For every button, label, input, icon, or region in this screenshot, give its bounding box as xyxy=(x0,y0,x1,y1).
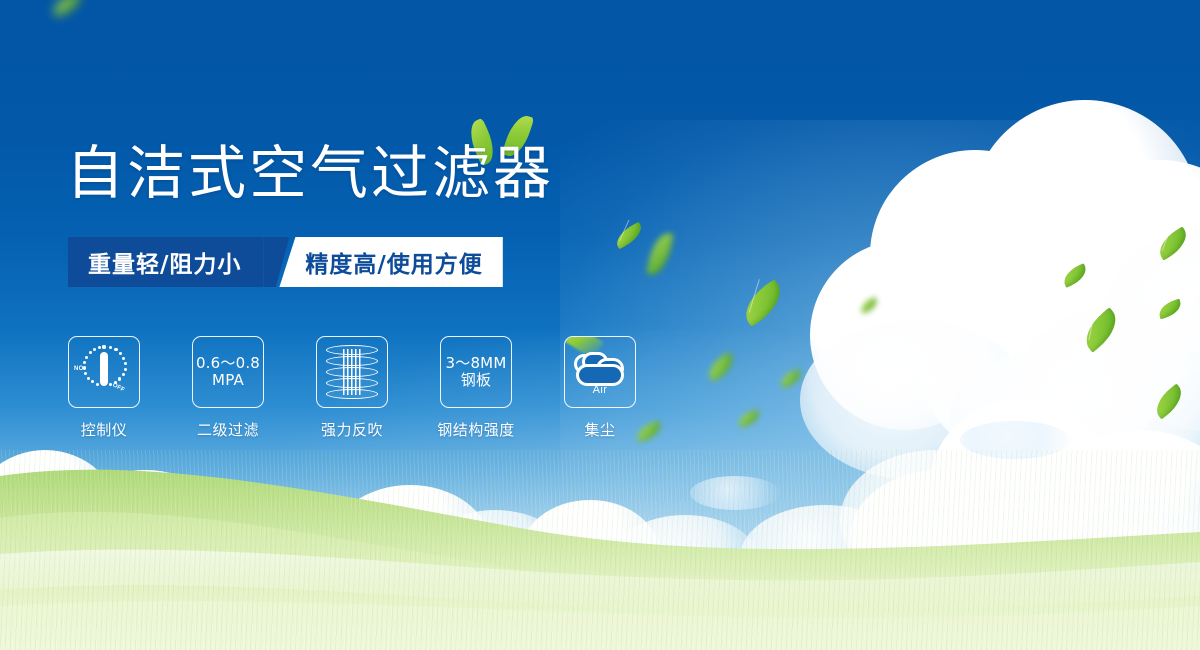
feature-icon-box: 3〜8MM 钢板 xyxy=(440,336,512,408)
pressure-unit: MPA xyxy=(196,372,260,389)
control-dial-icon: NO OFF xyxy=(74,343,134,401)
feature-label: 控制仪 xyxy=(81,419,128,440)
air-label: Air xyxy=(570,384,630,396)
cloud-shape-large xyxy=(576,364,624,386)
feature-icon-box: Air xyxy=(564,336,636,408)
feature-label: 二级过滤 xyxy=(197,419,259,440)
feature-icon-box: 0.6〜0.8 MPA xyxy=(192,336,264,408)
feature-item-backblow[interactable]: 强力反吹 xyxy=(316,336,388,440)
subtitle-left-text: 重量轻/阻力小 xyxy=(68,237,263,287)
grass-hill-shape xyxy=(0,420,1200,650)
feature-item-secondary-filter[interactable]: 0.6〜0.8 MPA 二级过滤 xyxy=(192,336,264,440)
page-title: 自洁式空气过滤器 xyxy=(66,144,554,202)
steel-plate-text-icon: 3〜8MM 钢板 xyxy=(446,355,507,390)
feature-label: 强力反吹 xyxy=(321,419,383,440)
grass-hill xyxy=(0,420,1200,650)
steel-material: 钢板 xyxy=(446,372,507,389)
dial-no-label: NO xyxy=(74,366,84,372)
subtitle-right-text: 精度高/使用方便 xyxy=(279,237,502,287)
feature-item-dust-collection[interactable]: Air 集尘 xyxy=(564,336,636,440)
feature-item-steel-strength[interactable]: 3〜8MM 钢板 钢结构强度 xyxy=(440,336,512,440)
feature-label: 集尘 xyxy=(584,419,615,440)
feature-label: 钢结构强度 xyxy=(437,419,515,440)
subtitle-bar: 重量轻/阻力小 精度高/使用方便 xyxy=(68,237,503,287)
filter-coil-icon xyxy=(326,345,378,399)
feature-icon-box xyxy=(316,336,388,408)
steel-thickness: 3〜8MM xyxy=(446,354,507,372)
air-cloud-icon: Air xyxy=(570,344,630,400)
pressure-value: 0.6〜0.8 xyxy=(196,354,260,372)
feature-list: NO OFF 控制仪 0.6〜0.8 MPA 二级过滤 xyxy=(68,336,636,440)
feature-icon-box: NO OFF xyxy=(68,336,140,408)
pressure-text-icon: 0.6〜0.8 MPA xyxy=(196,355,260,390)
promo-banner: 自洁式空气过滤器 重量轻/阻力小 精度高/使用方便 xyxy=(0,0,1200,650)
feature-item-control-dial[interactable]: NO OFF 控制仪 xyxy=(68,336,140,440)
dial-pointer xyxy=(100,352,108,386)
